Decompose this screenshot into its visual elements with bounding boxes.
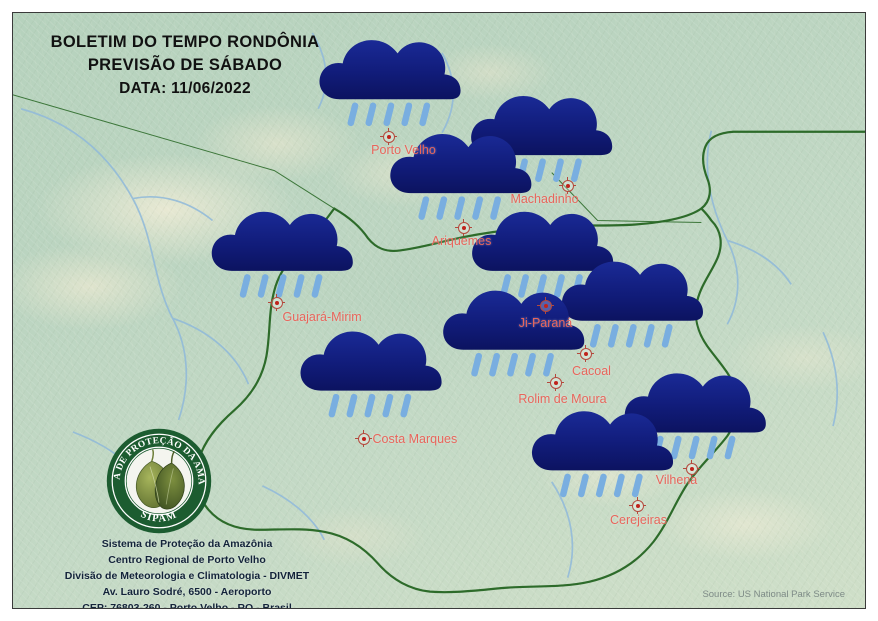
city-label-rolim-de-moura: Rolim de Moura xyxy=(518,392,606,406)
raindrop-4 xyxy=(524,352,536,377)
weather-bulletin-page: BOLETIM DO TEMPO RONDÔNIA PREVISÃO DE SÁ… xyxy=(0,0,878,621)
raindrop-2 xyxy=(577,473,589,498)
city-label-machadinho: Machadinho xyxy=(510,192,578,206)
footer-line-5: CEP: 76803-260 - Porto Velho - RO - Bras… xyxy=(37,601,337,609)
raindrop-4 xyxy=(293,274,305,299)
marker-tick xyxy=(537,305,541,306)
raindrop-1 xyxy=(589,323,601,348)
weather-icon-porto-velho xyxy=(319,40,460,127)
raindrop-3 xyxy=(625,323,637,348)
raindrop-4 xyxy=(552,158,564,183)
marker-tick xyxy=(577,353,581,354)
city-label-guajar-mirim: Guajará-Mirim xyxy=(283,310,362,324)
source-attribution: Source: US National Park Service xyxy=(702,589,845,600)
city-label-cacoal: Cacoal xyxy=(572,364,611,378)
raindrop-5 xyxy=(400,393,412,418)
city-marker-icon xyxy=(271,297,283,309)
raindrop-4 xyxy=(553,274,565,299)
city-label-ariquemes: Ariquemes xyxy=(432,234,492,248)
raindrop-5 xyxy=(661,323,673,348)
raindrop-4 xyxy=(706,435,718,460)
marker-tick xyxy=(561,382,565,383)
city-marker-icon xyxy=(550,377,562,389)
sipam-logo: SISTEMA DE PROTEÇÃO DA AMAZÔNIA SIPAM xyxy=(105,427,213,535)
raindrop-2 xyxy=(489,352,501,377)
marker-tick xyxy=(463,219,464,223)
marker-tick xyxy=(369,438,373,439)
marker-tick xyxy=(276,294,277,298)
raindrop-4 xyxy=(643,323,655,348)
footer-contact-block: Sistema de Proteção da AmazôniaCentro Re… xyxy=(37,537,337,609)
city-marker-icon xyxy=(580,348,592,360)
raindrop-5 xyxy=(419,102,431,127)
raindrop-1 xyxy=(559,473,571,498)
city-marker-icon xyxy=(458,222,470,234)
cloud-shape xyxy=(472,212,613,271)
marker-tick xyxy=(545,311,546,315)
marker-tick xyxy=(591,353,595,354)
raindrop-5 xyxy=(542,352,554,377)
raindrop-5 xyxy=(570,158,582,183)
marker-tick xyxy=(394,136,398,137)
raindrop-2 xyxy=(257,274,269,299)
marker-tick xyxy=(643,505,647,506)
marker-tick xyxy=(380,136,384,137)
raindrop-2 xyxy=(517,274,529,299)
marker-tick xyxy=(683,468,687,469)
raindrop-4 xyxy=(401,102,413,127)
marker-tick xyxy=(567,177,568,181)
raindrop-3 xyxy=(595,473,607,498)
marker-tick xyxy=(585,359,586,363)
title-line-3: DATA: 11/06/2022 xyxy=(39,78,331,100)
raindrop-1 xyxy=(239,274,251,299)
secondary-boundaries xyxy=(13,95,701,223)
title-line-2: PREVISÃO DE SÁBADO xyxy=(39,54,331,77)
marker-tick xyxy=(585,345,586,349)
footer-line-3: Divisão de Meteorologia e Climatologia -… xyxy=(37,569,337,585)
marker-tick xyxy=(547,382,551,383)
city-label-costa-marques: Costa Marques xyxy=(373,432,458,446)
raindrop-3 xyxy=(454,196,466,221)
raindrop-3 xyxy=(688,435,700,460)
city-marker-icon xyxy=(632,500,644,512)
raindrop-1 xyxy=(471,352,483,377)
raindrop-2 xyxy=(607,323,619,348)
marker-tick xyxy=(573,185,577,186)
city-marker-icon xyxy=(540,300,552,312)
raindrop-3 xyxy=(364,393,376,418)
map-frame: BOLETIM DO TEMPO RONDÔNIA PREVISÃO DE SÁ… xyxy=(12,12,866,609)
marker-tick xyxy=(363,430,364,434)
weather-icon-layer xyxy=(212,40,766,498)
weather-icon-rolim-de-moura xyxy=(443,291,584,378)
cloud-shape xyxy=(319,40,460,99)
city-label-porto-velho: Porto Velho xyxy=(371,143,436,157)
raindrop-4 xyxy=(613,473,625,498)
marker-tick xyxy=(355,438,359,439)
raindrop-5 xyxy=(631,473,643,498)
footer-line-4: Av. Lauro Sodré, 6500 - Aeroporto xyxy=(37,585,337,601)
city-label-ji-paran-: Ji-Paraná xyxy=(519,316,573,330)
weather-icon-costa-marques xyxy=(301,331,442,418)
marker-tick xyxy=(276,308,277,312)
raindrop-3 xyxy=(383,102,395,127)
marker-tick xyxy=(697,468,701,469)
raindrop-1 xyxy=(418,196,430,221)
city-marker-icon xyxy=(383,131,395,143)
cloud-shape xyxy=(212,212,353,271)
marker-tick xyxy=(629,505,633,506)
raindrop-5 xyxy=(311,274,323,299)
marker-tick xyxy=(555,374,556,378)
marker-tick xyxy=(559,185,563,186)
marker-tick xyxy=(555,388,556,392)
marker-tick xyxy=(691,460,692,464)
marker-tick xyxy=(388,128,389,132)
city-label-vilhena: Vilhena xyxy=(656,473,697,487)
marker-tick xyxy=(268,302,272,303)
raindrop-1 xyxy=(347,102,359,127)
city-marker-icon xyxy=(358,433,370,445)
title-line-1: BOLETIM DO TEMPO RONDÔNIA xyxy=(39,31,331,54)
footer-line-2: Centro Regional de Porto Velho xyxy=(37,553,337,569)
cloud-shape xyxy=(301,331,442,390)
raindrop-2 xyxy=(436,196,448,221)
footer-line-1: Sistema de Proteção da Amazônia xyxy=(37,537,337,553)
raindrop-3 xyxy=(507,352,519,377)
city-marker-icon xyxy=(562,180,574,192)
raindrop-5 xyxy=(490,196,502,221)
city-label-cerejeiras: Cerejeiras xyxy=(610,513,667,527)
raindrop-2 xyxy=(365,102,377,127)
marker-tick xyxy=(637,497,638,501)
marker-tick xyxy=(469,227,473,228)
raindrop-1 xyxy=(328,393,340,418)
page-title: BOLETIM DO TEMPO RONDÔNIA PREVISÃO DE SÁ… xyxy=(39,31,331,100)
weather-icon-guajar-mirim xyxy=(212,212,353,299)
marker-tick xyxy=(282,302,286,303)
raindrop-3 xyxy=(534,158,546,183)
raindrop-4 xyxy=(472,196,484,221)
marker-tick xyxy=(545,297,546,301)
marker-tick xyxy=(551,305,555,306)
raindrop-4 xyxy=(382,393,394,418)
raindrop-2 xyxy=(346,393,358,418)
marker-tick xyxy=(455,227,459,228)
marker-tick xyxy=(363,444,364,448)
